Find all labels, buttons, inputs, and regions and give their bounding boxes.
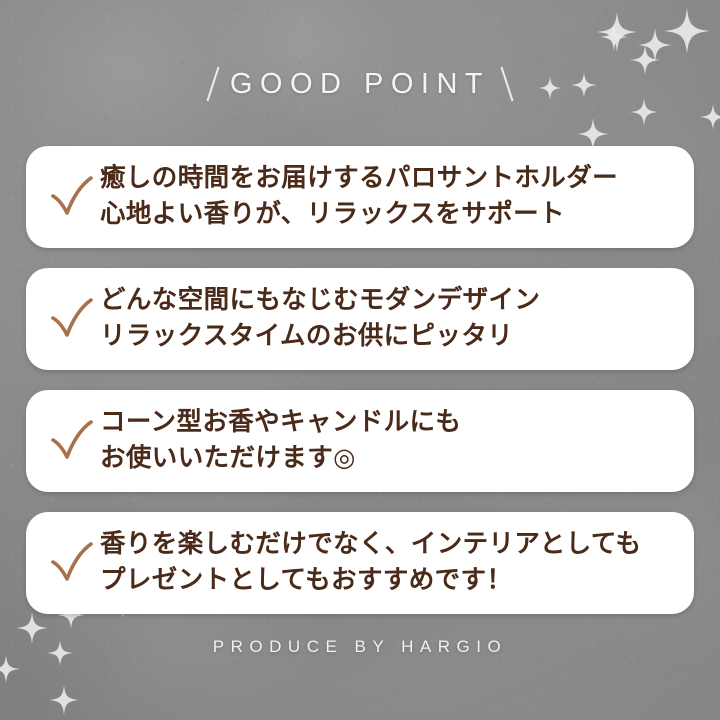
poster-canvas: GOOD POINT 癒しの時間をお届けするパロサントホルダー 心地よい香りが、…: [0, 0, 720, 720]
feature-card-line-2: リラックスタイムのお供にピッタリ: [100, 319, 678, 355]
check-icon: [26, 297, 100, 341]
feature-card-text: 癒しの時間をお届けするパロサントホルダー 心地よい香りが、リラックスをサポート: [100, 161, 694, 232]
feature-card-text: 香りを楽しむだけでなく、インテリアとしても プレゼントとしてもおすすめです！: [100, 527, 694, 598]
feature-card: 香りを楽しむだけでなく、インテリアとしても プレゼントとしてもおすすめです！: [26, 512, 694, 614]
feature-card-line-2: プレゼントとしてもおすすめです！: [100, 563, 678, 599]
feature-card-line-1: どんな空間にもなじむモダンデザイン: [100, 283, 678, 319]
feature-card: コーン型お香やキャンドルにも お使いいただけます◎: [26, 390, 694, 492]
feature-card-list: 癒しの時間をお届けするパロサントホルダー 心地よい香りが、リラックスをサポート …: [26, 146, 694, 614]
feature-card-text: コーン型お香やキャンドルにも お使いいただけます◎: [100, 405, 694, 476]
check-icon: [26, 419, 100, 463]
page-title: GOOD POINT: [230, 68, 490, 101]
feature-card-line-1: コーン型お香やキャンドルにも: [100, 405, 678, 441]
feature-card-text: どんな空間にもなじむモダンデザイン リラックスタイムのお供にピッタリ: [100, 283, 694, 354]
check-icon: [26, 541, 100, 585]
feature-card-line-2: お使いいただけます◎: [100, 441, 678, 477]
check-icon: [26, 175, 100, 219]
feature-card-line-2: 心地よい香りが、リラックスをサポート: [100, 197, 678, 233]
feature-card: どんな空間にもなじむモダンデザイン リラックスタイムのお供にピッタリ: [26, 268, 694, 370]
footer-credit: PRODUCE BY HARGIO: [0, 637, 720, 657]
feature-card: 癒しの時間をお届けするパロサントホルダー 心地よい香りが、リラックスをサポート: [26, 146, 694, 248]
feature-card-line-1: 香りを楽しむだけでなく、インテリアとしても: [100, 527, 678, 563]
left-slash-decoration: [206, 67, 219, 102]
feature-card-line-1: 癒しの時間をお届けするパロサントホルダー: [100, 161, 678, 197]
right-slash-decoration: [501, 67, 514, 102]
heading-block: GOOD POINT: [0, 66, 720, 102]
